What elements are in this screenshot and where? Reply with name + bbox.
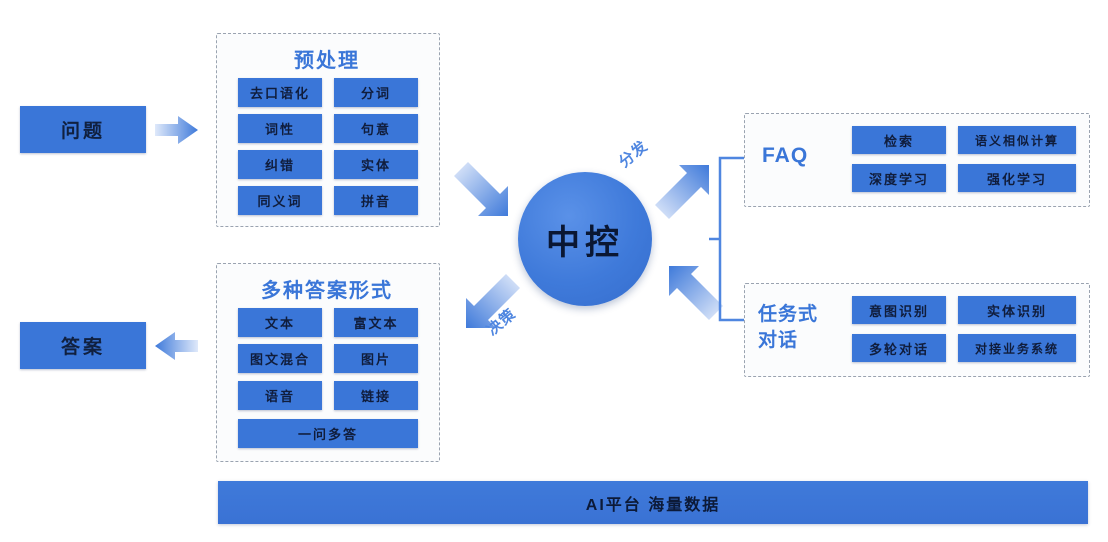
- chip-label: 强化学习: [987, 169, 1047, 188]
- chip-preprocess-3[interactable]: 句意: [334, 114, 418, 143]
- arrow-label-decision: 决策: [482, 303, 520, 340]
- node-answer[interactable]: 答案: [20, 322, 146, 369]
- chip-task-1[interactable]: 实体识别: [958, 296, 1076, 324]
- group-task-dialog-title: 任务式 对话: [758, 302, 850, 354]
- chip-preprocess-5[interactable]: 实体: [334, 150, 418, 179]
- platform-bar[interactable]: AI平台 海量数据: [218, 481, 1088, 524]
- chip-answer-form-wide[interactable]: 一问多答: [238, 419, 418, 448]
- chip-label: 图片: [361, 349, 391, 368]
- group-preprocess-title: 预处理: [216, 44, 438, 73]
- chip-answer-form-1[interactable]: 富文本: [334, 308, 418, 337]
- group-task-dialog-title-line1: 任务式: [758, 302, 850, 328]
- chip-label: 文本: [265, 313, 295, 332]
- chip-label: 实体: [361, 155, 391, 174]
- chip-label: 对接业务系统: [975, 340, 1059, 357]
- chip-label: 同义词: [257, 191, 302, 210]
- chip-answer-form-2[interactable]: 图文混合: [238, 344, 322, 373]
- chip-label: 分词: [361, 83, 391, 102]
- chip-label: 富文本: [353, 313, 398, 332]
- chip-preprocess-0[interactable]: 去口语化: [238, 78, 322, 107]
- chip-label: 实体识别: [987, 301, 1047, 320]
- right-bracket-connector: [709, 158, 745, 320]
- diagram-canvas: 问题 答案 预处理 去口语化 分词 词性 句意 纠错 实体 同义词 拼音 多种答…: [0, 0, 1108, 542]
- node-question-label: 问题: [61, 116, 105, 143]
- platform-bar-label: AI平台 海量数据: [586, 491, 720, 515]
- chip-faq-2[interactable]: 深度学习: [852, 164, 946, 192]
- chip-preprocess-4[interactable]: 纠错: [238, 150, 322, 179]
- arrow-label-distribute: 分发: [614, 135, 652, 172]
- chip-label: 多轮对话: [869, 339, 929, 358]
- chip-label: 深度学习: [869, 169, 929, 188]
- chip-faq-3[interactable]: 强化学习: [958, 164, 1076, 192]
- chip-answer-form-0[interactable]: 文本: [238, 308, 322, 337]
- chip-answer-form-3[interactable]: 图片: [334, 344, 418, 373]
- chip-answer-form-5[interactable]: 链接: [334, 381, 418, 410]
- chip-label: 去口语化: [250, 83, 310, 102]
- group-task-dialog-title-line2: 对话: [758, 328, 850, 354]
- chip-preprocess-1[interactable]: 分词: [334, 78, 418, 107]
- chip-answer-form-4[interactable]: 语音: [238, 381, 322, 410]
- chip-faq-1[interactable]: 语义相似计算: [958, 126, 1076, 154]
- chip-label: 语音: [265, 386, 295, 405]
- chip-preprocess-7[interactable]: 拼音: [334, 186, 418, 215]
- node-question[interactable]: 问题: [20, 106, 146, 153]
- chip-label: 链接: [361, 386, 391, 405]
- chip-preprocess-2[interactable]: 词性: [238, 114, 322, 143]
- chip-label: 意图识别: [869, 301, 929, 320]
- chip-label: 纠错: [265, 155, 295, 174]
- chip-label: 图文混合: [250, 349, 310, 368]
- chip-preprocess-6[interactable]: 同义词: [238, 186, 322, 215]
- chip-task-3[interactable]: 对接业务系统: [958, 334, 1076, 362]
- arrow-hub-to-faq: [655, 165, 709, 219]
- chip-task-2[interactable]: 多轮对话: [852, 334, 946, 362]
- chip-faq-0[interactable]: 检索: [852, 126, 946, 154]
- chip-label: 检索: [884, 131, 914, 150]
- arrow-answerforms-to-answer: [155, 332, 198, 360]
- arrow-question-to-preprocess: [155, 116, 198, 144]
- chip-label: 句意: [361, 119, 391, 138]
- group-answer-forms-title: 多种答案形式: [216, 274, 438, 303]
- node-answer-label: 答案: [61, 332, 105, 359]
- group-faq-title: FAQ: [762, 144, 842, 168]
- chip-label: 词性: [265, 119, 295, 138]
- chip-label: 拼音: [361, 191, 391, 210]
- arrow-preprocess-to-hub: [454, 162, 508, 216]
- hub-label: 中控: [546, 215, 624, 264]
- chip-label: 一问多答: [298, 424, 358, 443]
- hub-central-control[interactable]: 中控: [518, 172, 652, 306]
- arrow-taskdialog-to-hub: [669, 266, 723, 320]
- chip-task-0[interactable]: 意图识别: [852, 296, 946, 324]
- chip-label: 语义相似计算: [975, 132, 1059, 149]
